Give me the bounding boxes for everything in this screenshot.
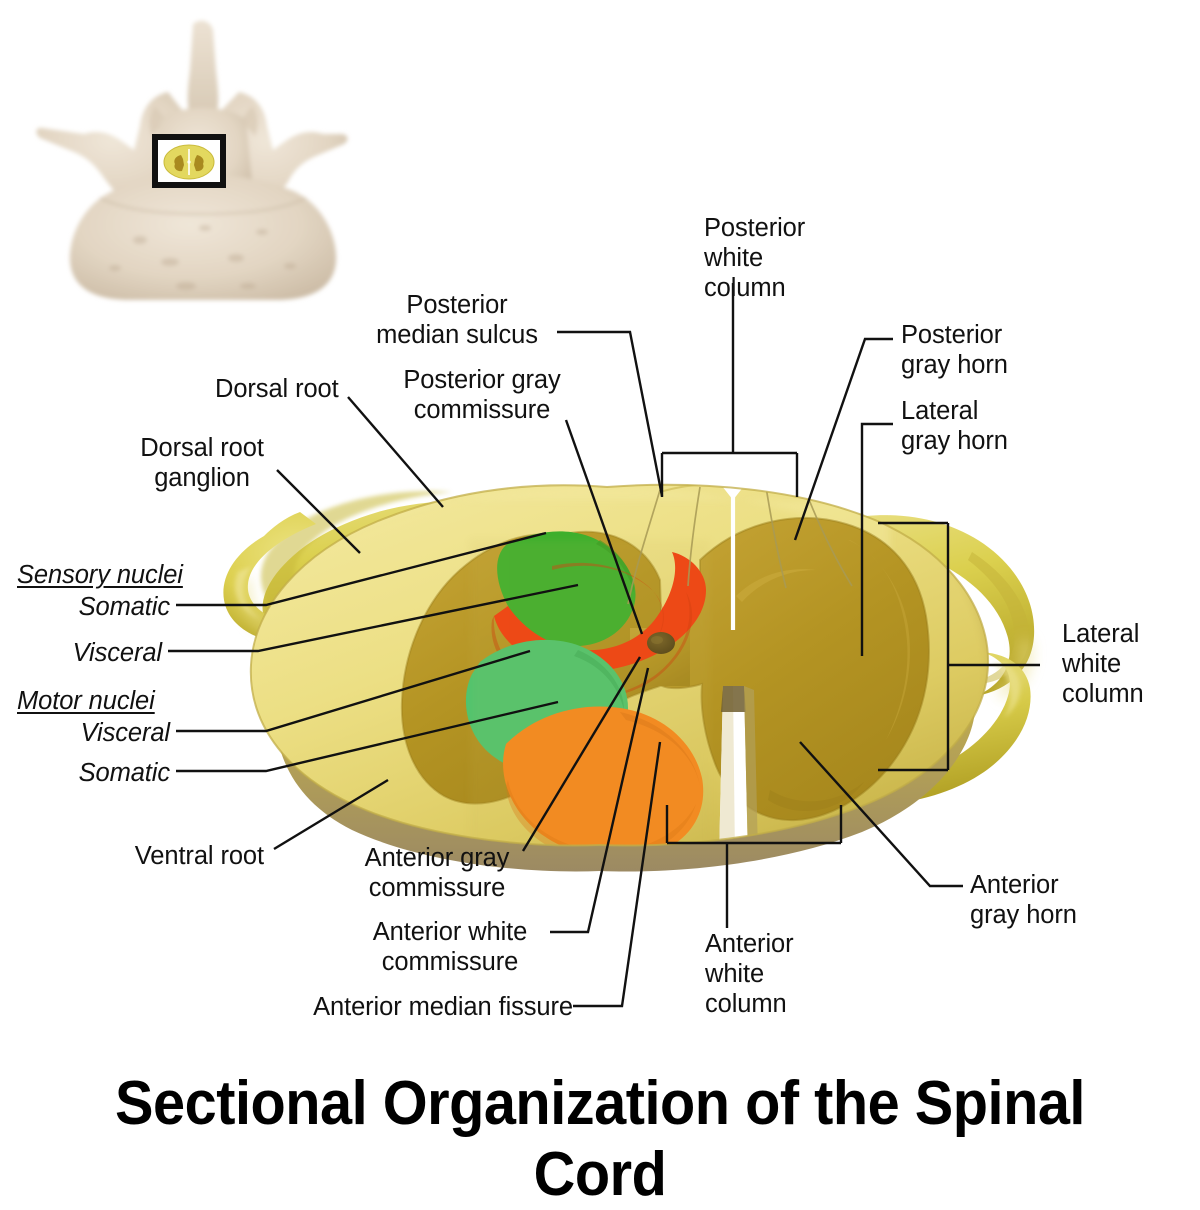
label-dorsal-root-ganglion: Dorsal root ganglion bbox=[112, 433, 292, 493]
spinal-cord-illustration bbox=[0, 0, 1200, 1200]
label-lateral-white-column: Lateral white column bbox=[1062, 619, 1144, 709]
central-canal-shape bbox=[647, 632, 675, 654]
label-sensory-nuclei-heading: Sensory nuclei bbox=[17, 560, 183, 590]
label-motor-somatic: Somatic bbox=[0, 758, 170, 788]
label-posterior-median-sulcus: Posterior median sulcus bbox=[357, 290, 557, 350]
label-sensory-somatic: Somatic bbox=[0, 592, 170, 622]
label-posterior-gray-horn: Posterior gray horn bbox=[901, 320, 1008, 380]
label-lateral-gray-horn: Lateral gray horn bbox=[901, 396, 1008, 456]
label-ventral-root: Ventral root bbox=[30, 841, 264, 871]
label-anterior-white-commissure: Anterior white commissure bbox=[350, 917, 550, 977]
label-motor-nuclei-heading: Motor nuclei bbox=[17, 686, 155, 716]
figure-root: Dorsal root Dorsal root ganglion Sensory… bbox=[0, 0, 1200, 1200]
label-dorsal-root: Dorsal root bbox=[215, 374, 339, 404]
label-motor-visceral: Visceral bbox=[0, 718, 170, 748]
figure-title: Sectional Organization of the Spinal Cor… bbox=[42, 1068, 1158, 1210]
label-sensory-visceral: Visceral bbox=[0, 638, 162, 668]
label-anterior-median-fissure: Anterior median fissure bbox=[273, 992, 573, 1022]
label-anterior-gray-commissure: Anterior gray commissure bbox=[337, 843, 537, 903]
label-posterior-white-column: Posterior white column bbox=[704, 213, 805, 303]
label-posterior-gray-commissure: Posterior gray commissure bbox=[382, 365, 582, 425]
inset-highlight-box bbox=[155, 137, 223, 185]
label-anterior-white-column: Anterior white column bbox=[705, 929, 794, 1019]
label-anterior-gray-horn: Anterior gray horn bbox=[970, 870, 1077, 930]
